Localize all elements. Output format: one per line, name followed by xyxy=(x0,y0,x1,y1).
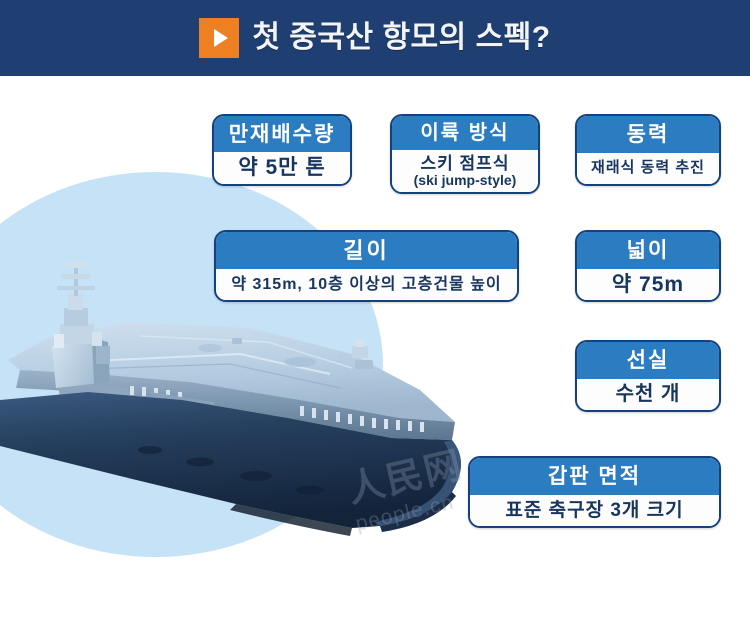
spec-box-deck-area: 갑판 면적 표준 축구장 3개 크기 xyxy=(468,456,721,528)
spec-box-cabins: 선실 수천 개 xyxy=(575,340,721,412)
page-title: 첫 중국산 항모의 스펙? xyxy=(252,23,550,53)
header-inner: 첫 중국산 항모의 스펙? xyxy=(199,18,550,58)
spec-value-text: 약 75m xyxy=(612,273,684,297)
spec-value-text: 스키 점프식 xyxy=(421,154,510,173)
spec-value-sub: (ski jump-style) xyxy=(414,173,517,189)
spec-label-deck-area: 갑판 면적 xyxy=(470,458,719,495)
spec-value-text: 재래식 동력 추진 xyxy=(591,160,705,177)
spec-label-cabins: 선실 xyxy=(577,342,719,379)
play-icon xyxy=(199,18,239,58)
header-band: 첫 중국산 항모의 스펙? xyxy=(0,0,750,76)
spec-box-displacement: 만재배수량 약 5만 톤 xyxy=(212,114,352,186)
spec-value-length: 약 315m, 10층 이상의 고층건물 높이 xyxy=(216,269,517,300)
spec-value-text: 약 315m, 10층 이상의 고층건물 높이 xyxy=(231,276,501,294)
spec-label-power: 동력 xyxy=(577,116,719,153)
spec-label-takeoff: 이륙 방식 xyxy=(392,116,538,150)
play-triangle-icon xyxy=(214,29,228,47)
spec-label-length: 길이 xyxy=(216,232,517,269)
spec-label-displacement: 만재배수량 xyxy=(214,116,350,152)
spec-box-takeoff: 이륙 방식 스키 점프식 (ski jump-style) xyxy=(390,114,540,194)
spec-box-length: 길이 약 315m, 10층 이상의 고층건물 높이 xyxy=(214,230,519,302)
infographic-root: 첫 중국산 항모의 스펙? xyxy=(0,0,750,636)
spec-value-cabins: 수천 개 xyxy=(577,379,719,410)
spec-value-text: 표준 축구장 3개 크기 xyxy=(505,500,683,521)
spec-value-power: 재래식 동력 추진 xyxy=(577,153,719,184)
spec-value-width: 약 75m xyxy=(577,269,719,300)
spec-box-width: 넓이 약 75m xyxy=(575,230,721,302)
spec-value-displacement: 약 5만 톤 xyxy=(214,152,350,184)
spec-value-text: 약 5만 톤 xyxy=(238,156,325,180)
spec-value-takeoff: 스키 점프식 (ski jump-style) xyxy=(392,150,538,192)
spec-value-deck-area: 표준 축구장 3개 크기 xyxy=(470,495,719,526)
spec-box-power: 동력 재래식 동력 추진 xyxy=(575,114,721,186)
spec-label-width: 넓이 xyxy=(577,232,719,269)
spec-value-text: 수천 개 xyxy=(616,383,681,405)
